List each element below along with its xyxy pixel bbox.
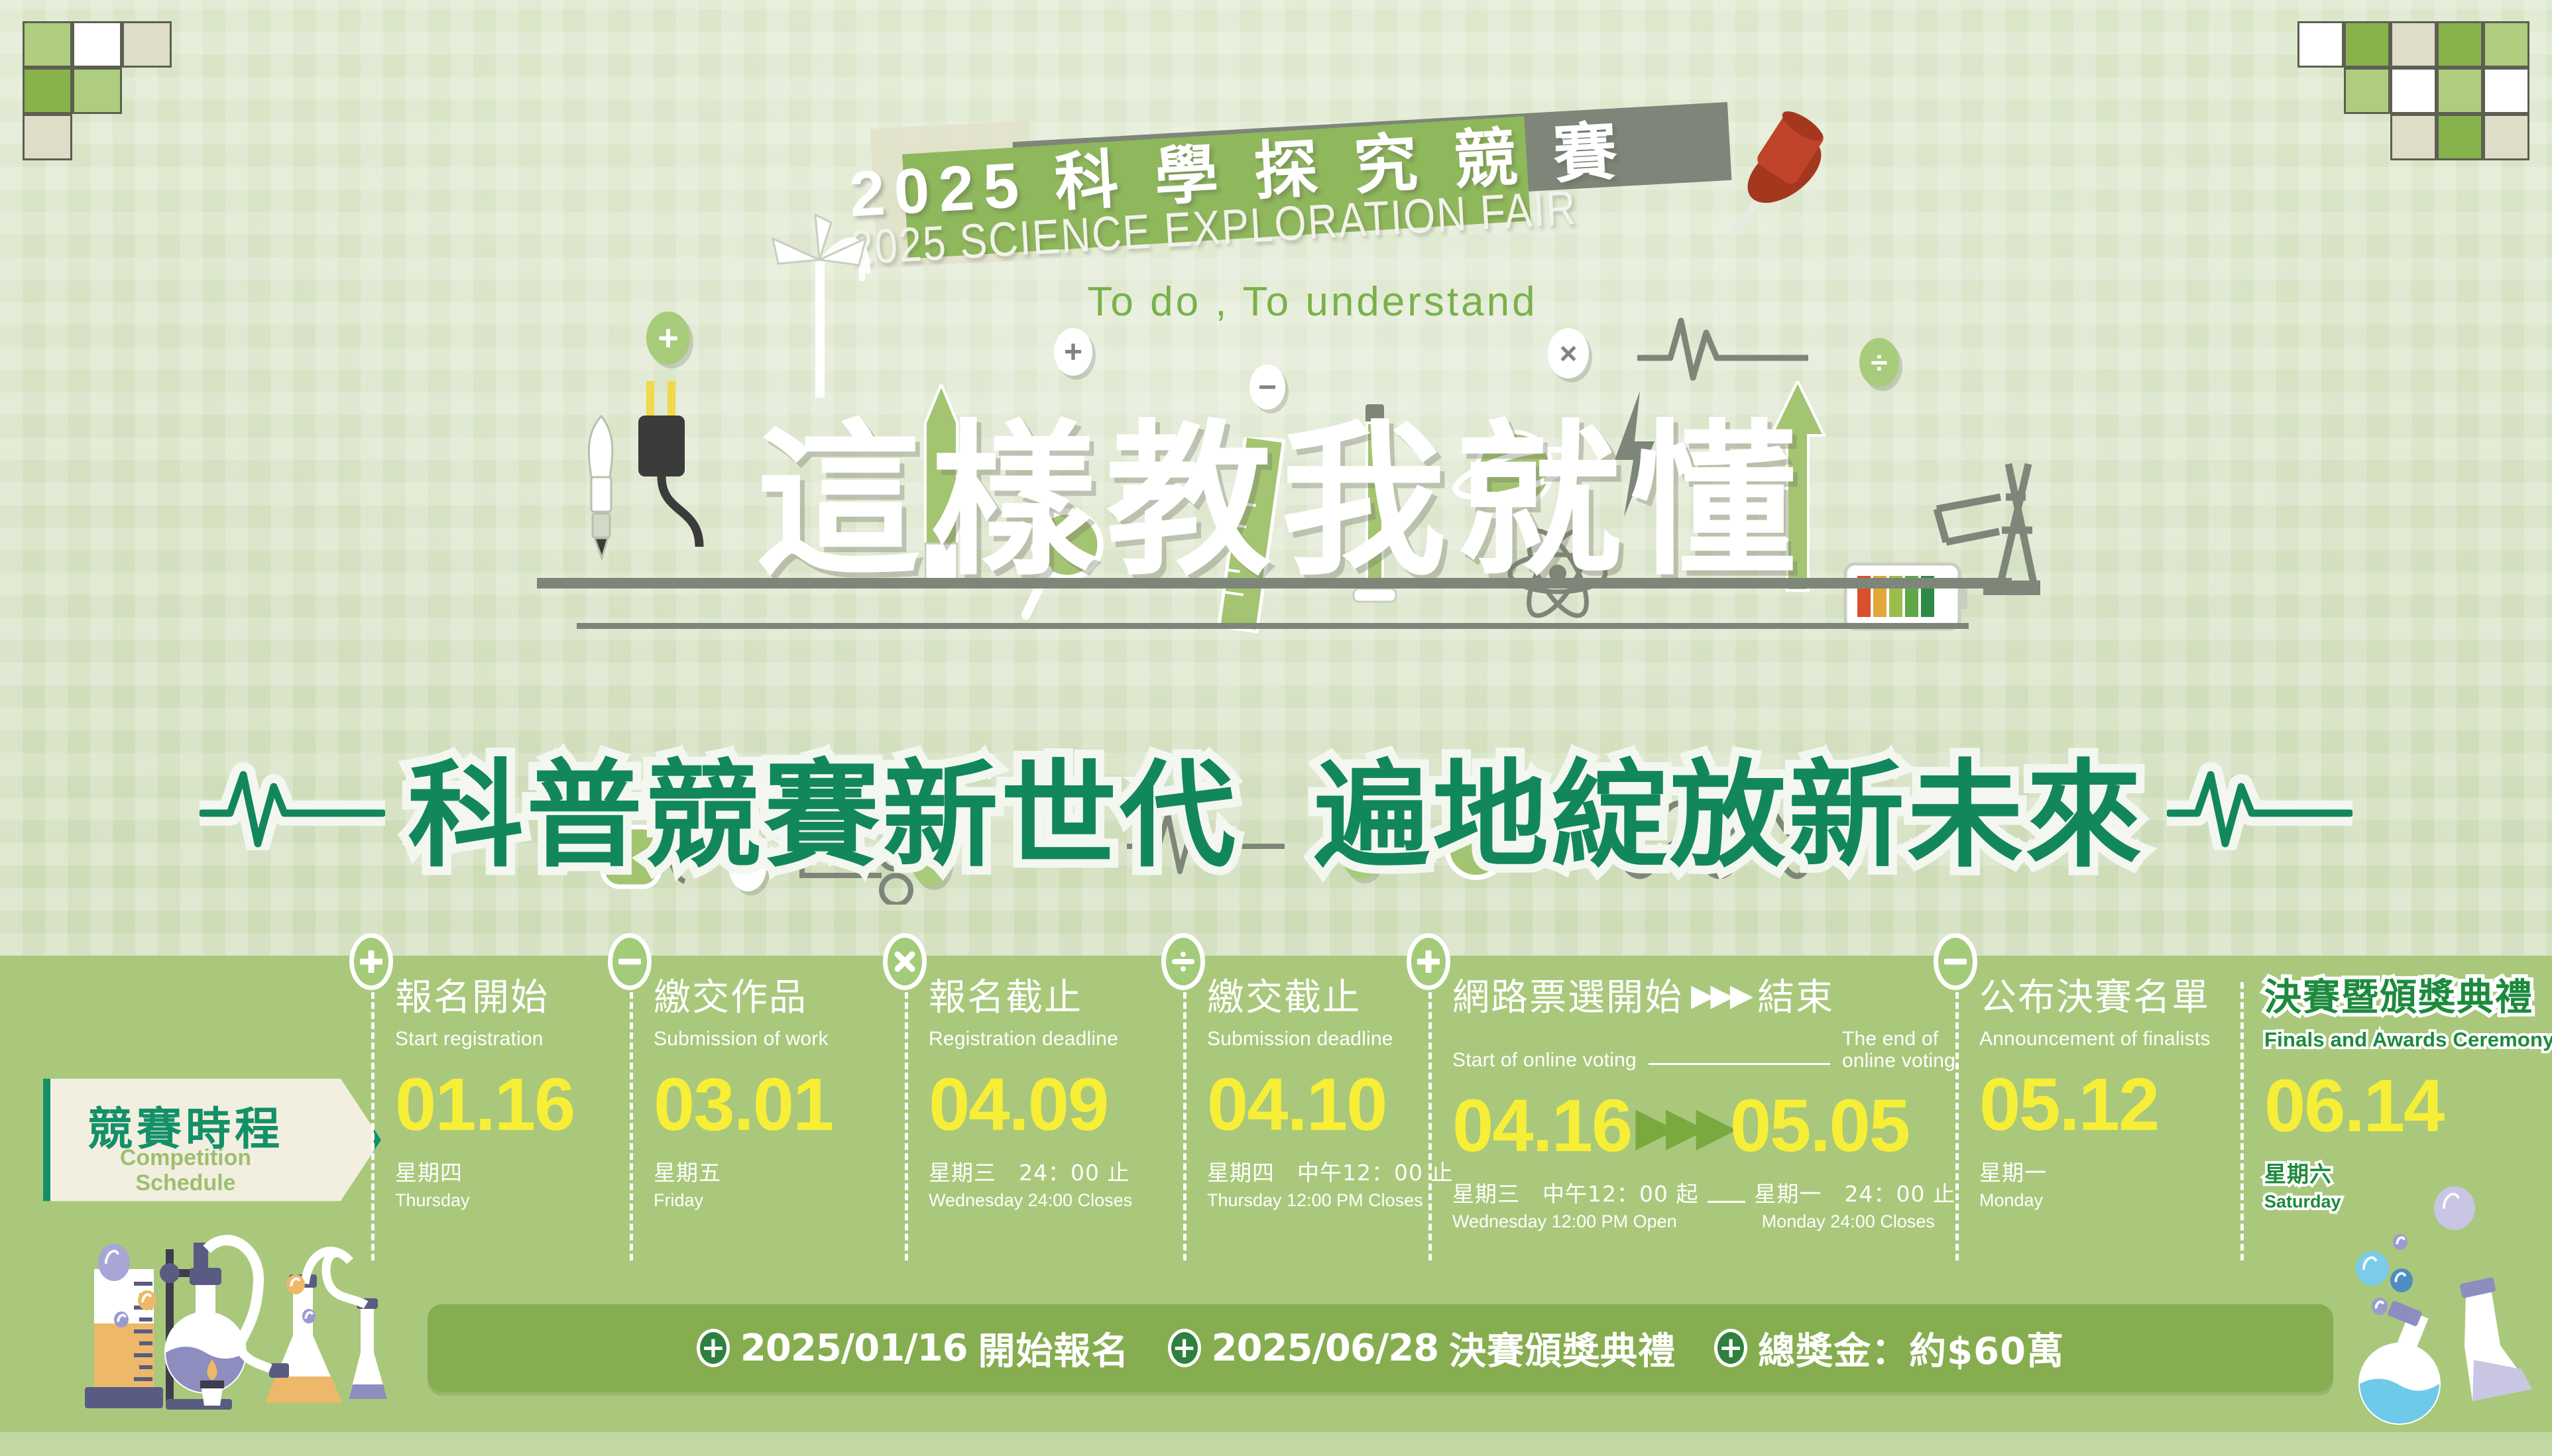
schedule-note-zh: 星期一 [1979,1155,2240,1187]
schedule-note-en: Thursday [395,1190,630,1211]
schedule-item-online-voting[interactable]: 網路票選開始 ▶▶▶ 結束 Start of online voting The… [1428,968,1955,1279]
schedule-date: 04.09 [929,1068,1183,1142]
schedule-item-submission-deadline[interactable]: 繳交截止 Submission deadline 04.10 星期四 中午12：… [1183,968,1428,1279]
voting-end-label-en-line1: The end of [1842,1028,1938,1050]
column-divider [630,982,633,1260]
bubble-decoration [2393,1234,2407,1250]
info-item-total-prize[interactable]: + 總獎金：約$60萬 [1714,1321,2064,1375]
badge-title-en-line1: Competition [120,1145,251,1170]
plus-circle-icon [1407,933,1450,990]
schedule-date: 01.16 [395,1068,630,1142]
bubble-decoration [98,1244,130,1281]
info-item-awards-ceremony[interactable]: + 2025/06/28 決賽頒獎典禮 [1168,1321,1676,1375]
pixel-block [23,68,72,114]
voting-end-date: 05.05 [1730,1089,1909,1163]
competition-schedule-badge: 競賽時程 Competition Schedule [43,1067,381,1213]
schedule-note-zh: 星期四 [395,1155,630,1187]
info-bar: + 2025/01/16 開始報名 + 2025/06/28 決賽頒獎典禮 + … [428,1304,2333,1392]
hero-title-char: 樣 [931,423,1096,581]
schedule-label-en: Registration deadline [929,1028,1183,1050]
schedule-label-en: Announcement of finalists [1979,1028,2240,1050]
pixel-block [2390,21,2437,68]
event-banner: 2025 科 學 探 究 競 賽 2025 SCIENCE EXPLORATIO… [848,113,1750,285]
minus-circle-icon [608,933,652,990]
schedule-date-voting: 04.16 ▶▶▶ 05.05 [1452,1089,1955,1163]
schedule-item-announcement-of-finalists[interactable]: 公布決賽名單 Announcement of finalists 05.12 星… [1955,968,2240,1279]
bubble-decoration [114,1312,129,1327]
pixel-block [2344,21,2390,68]
pixel-block [2390,114,2437,160]
schedule-label-zh-voting: 網路票選開始 ▶▶▶ 結束 [1452,968,1955,1021]
hero-title-char: 就 [1456,423,1621,581]
plus-circle-icon: + [1168,1329,1201,1367]
pixel-block [2344,68,2390,114]
voting-end-note-en: Monday 24:00 Closes [1762,1211,1935,1232]
pixel-block [2437,114,2483,160]
bubble-decoration [286,1274,305,1294]
voting-note-rule [1708,1201,1745,1203]
schedule-note-en: Friday [654,1190,905,1211]
poster-root: 2025 科 學 探 究 競 賽 2025 SCIENCE EXPLORATIO… [0,0,2552,1456]
pixel-block [23,114,72,160]
schedule-note-en: Monday [1979,1190,2240,1211]
slogan-wave-right-icon [2167,757,2352,854]
pixel-block [2483,114,2529,160]
column-divider [2240,982,2244,1260]
voting-start-label-en: Start of online voting [1452,1049,1637,1072]
pixel-block [72,68,122,114]
info-label: 開始報名 [978,1321,1130,1375]
schedule-label-zh: 公布決賽名單 [1979,968,2240,1021]
schedule-note-en: Saturday [2264,1192,2525,1212]
schedule-note-zh: 星期六 [2264,1156,2525,1188]
schedule-label-en: Submission of work [654,1028,905,1050]
info-item-registration-open[interactable]: + 2025/01/16 開始報名 [697,1321,1130,1375]
bubble-decoration [138,1290,156,1310]
schedule-note-en: Wednesday 24:00 Closes [929,1190,1183,1211]
corner-pixels-top-left [0,0,199,152]
plus-circle-icon: + [697,1329,730,1367]
schedule-note-zh: 星期四 中午12：00 止 [1207,1155,1428,1187]
schedule-label-zh: 繳交作品 [654,968,905,1021]
schedule-note-zh-voting: 星期三 中午12：00 起 星期一 24：00 止 [1452,1176,1955,1208]
hero-title-char: 教 [1106,423,1271,581]
corner-pixels-top-right [2247,0,2552,152]
column-divider [1955,982,1959,1260]
voting-start-date: 04.16 [1452,1089,1631,1163]
slogan-right-text: 遍地綻放新未來 [1314,722,2144,889]
column-divider [905,982,908,1260]
triple-chevron-right-icon: ▶▶▶ [1691,977,1749,1013]
schedule-label-en: Start registration [395,1028,630,1050]
voting-end-note-zh: 星期一 24：00 止 [1755,1176,1955,1208]
schedule-date: 05.12 [1979,1068,2240,1142]
schedule-note-en: Thursday 12:00 PM Closes [1207,1190,1428,1211]
bubble-decoration [302,1309,316,1323]
bubble-decoration [2434,1186,2475,1230]
slogan-left-text: 科普競賽新世代 [408,722,1238,889]
schedule-date: 06.14 [2264,1069,2525,1143]
badge-title-en: Competition Schedule [43,1145,328,1196]
hero-lower-rule [577,623,1969,629]
info-date: 2025/01/16 [740,1327,968,1370]
schedule-note-zh: 星期五 [654,1155,905,1187]
schedule-date: 03.01 [654,1068,905,1142]
schedule-timeline: 報名開始 Start registration 01.16 星期四 Thursd… [371,968,2525,1279]
column-divider [1183,982,1187,1260]
pixel-block [2390,68,2437,114]
schedule-label-en-voting: Start of online voting The end of online… [1452,1028,1955,1072]
voting-end-label-zh: 結束 [1757,968,1834,1021]
plus-circle-icon: + [646,311,690,364]
pixel-block [2483,21,2529,68]
schedule-label-zh: 繳交截止 [1207,968,1428,1021]
pixel-block [23,21,72,68]
schedule-note-zh: 星期三 24：00 止 [929,1155,1183,1187]
pixel-block [122,21,172,68]
pixel-block [2483,68,2529,114]
schedule-item-submission-of-work[interactable]: 繳交作品 Submission of work 03.01 星期五 Friday [630,968,905,1279]
plus-circle-icon [349,933,393,990]
pixel-block [2437,21,2483,68]
schedule-label-en: Submission deadline [1207,1028,1428,1050]
lab-apparatus-right [2333,1239,2552,1431]
column-divider [371,982,375,1260]
voting-start-note-en: Wednesday 12:00 PM Open [1452,1211,1677,1232]
pixel-block [2297,21,2344,68]
pushpin-icon [1704,99,1836,245]
voting-start-note-zh: 星期三 中午12：00 起 [1452,1176,1698,1208]
minus-circle-icon [1934,933,1977,990]
bubble-decoration [2356,1251,2389,1286]
banner-tagline: To do , To understand [1014,278,1611,325]
schedule-date: 04.10 [1207,1068,1428,1142]
pixel-block [72,21,122,68]
voting-start-label-zh: 網路票選開始 [1452,968,1683,1021]
schedule-note-en-voting: Wednesday 12:00 PM Open Monday 24:00 Clo… [1452,1211,1955,1232]
info-date: 2025/06/28 [1212,1327,1439,1370]
schedule-label-zh: 決賽暨頒獎典禮 [2264,968,2525,1021]
column-divider [1428,982,1432,1260]
schedule-label-zh: 報名開始 [395,968,630,1021]
schedule-label-zh: 報名截止 [929,968,1183,1021]
schedule-item-finals-and-awards[interactable]: 決賽暨頒獎典禮 Finals and Awards Ceremony 06.14… [2240,968,2525,1279]
schedule-label-en: Finals and Awards Ceremony [2264,1028,2525,1052]
bubble-decoration [2390,1268,2413,1292]
lab-apparatus-left [40,1223,437,1422]
slogan-row: 科普競賽新世代 遍地綻放新未來 [0,706,2552,905]
info-label: 總獎金：約$60萬 [1758,1321,2064,1375]
hero-title-char: 這 [756,423,921,581]
divide-circle-icon [1161,933,1205,990]
voting-connector-rule [1649,1063,1830,1065]
hero-title-char: 懂 [1631,423,1796,581]
hero-title: 這 樣 教 我 就 懂 [563,361,1989,580]
schedule-item-registration-deadline[interactable]: 報名截止 Registration deadline 04.09 星期三 24：… [905,968,1183,1279]
info-label: 決賽頒獎典禮 [1449,1321,1676,1375]
voting-end-label-en-line2: online voting [1842,1050,1955,1072]
bubble-decoration [2372,1298,2388,1315]
badge-title-en-line2: Schedule [135,1170,235,1196]
triple-chevron-right-icon: ▶▶▶ [1635,1099,1726,1152]
plus-circle-icon: + [1714,1329,1747,1367]
multiply-circle-icon [883,933,927,990]
slogan-wave-left-icon [200,757,385,854]
hero-baseline-rule [537,578,2012,588]
pixel-block [2437,68,2483,114]
voting-end-label-en: The end of online voting [1842,1028,1955,1072]
hero-title-char: 我 [1281,423,1446,581]
